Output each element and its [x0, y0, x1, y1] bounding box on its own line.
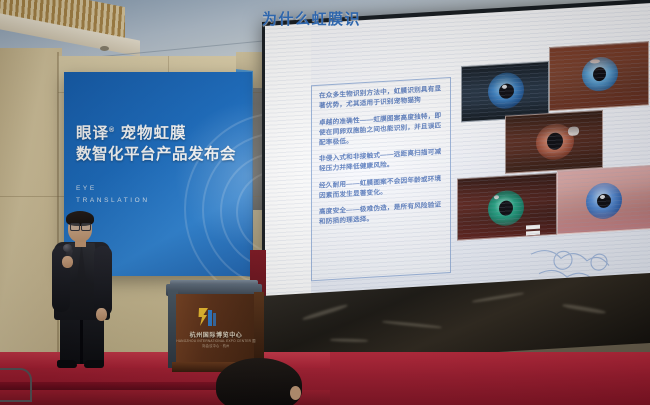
venue-logo-icon: [196, 306, 218, 328]
glasses-icon: [81, 223, 91, 231]
marble-vein: [330, 338, 368, 342]
audience-member-head: [216, 358, 302, 405]
banner-title-part2: 宠物虹膜: [121, 125, 187, 142]
wall-left: [0, 48, 62, 368]
banner-text-block: 眼译® 宠物虹膜 数智化平台产品发布会 EYE TRANSLATION: [76, 124, 246, 207]
speaker-hand-left: [62, 256, 73, 268]
marble-vein: [472, 292, 524, 303]
speaker-arm-right: [94, 246, 112, 316]
projection-screen: 在众多生物识别方法中，虹膜识别具有显著优势，尤其适用于识别宠物猫狗 卓越的准确性…: [265, 3, 650, 318]
banner-english-block: EYE TRANSLATION: [76, 183, 246, 208]
venue-subtitle-label: HANGZHOU INTERNATIONAL EXPO CENTER 国际会议中…: [176, 339, 256, 349]
banner-english-line2: TRANSLATION: [76, 195, 246, 207]
podium-side-right: [254, 292, 264, 366]
speaker-shoe-right: [84, 360, 104, 368]
marble-vein: [302, 303, 348, 321]
audience-member-ear: [290, 386, 301, 400]
registered-mark-icon: ®: [109, 127, 115, 134]
banner-brand: 眼译: [76, 125, 109, 142]
screen-scanlines: [265, 3, 650, 318]
marble-vein: [562, 303, 606, 314]
conference-presentation-photo: 眼译® 宠物虹膜 数智化平台产品发布会 EYE TRANSLATION 在众多生…: [0, 0, 650, 405]
marble-vein: [382, 320, 442, 329]
glasses-icon: [70, 223, 80, 231]
speaker-hand-right: [96, 308, 107, 321]
stage-rail: [0, 368, 32, 402]
banner-title-line1: 眼译® 宠物虹膜: [76, 124, 246, 143]
ceiling-light-icon: [100, 46, 109, 51]
slide-title: 为什么虹膜识: [262, 8, 361, 29]
banner-title-line2: 数智化平台产品发布会: [76, 145, 246, 165]
speaker-shoe-left: [57, 360, 77, 368]
venue-name-label: 杭州国际博览中心: [176, 330, 256, 339]
microphone-head-icon: [63, 244, 72, 252]
banner-english-line1: EYE: [76, 183, 246, 195]
speaker-leg-split: [80, 320, 83, 364]
